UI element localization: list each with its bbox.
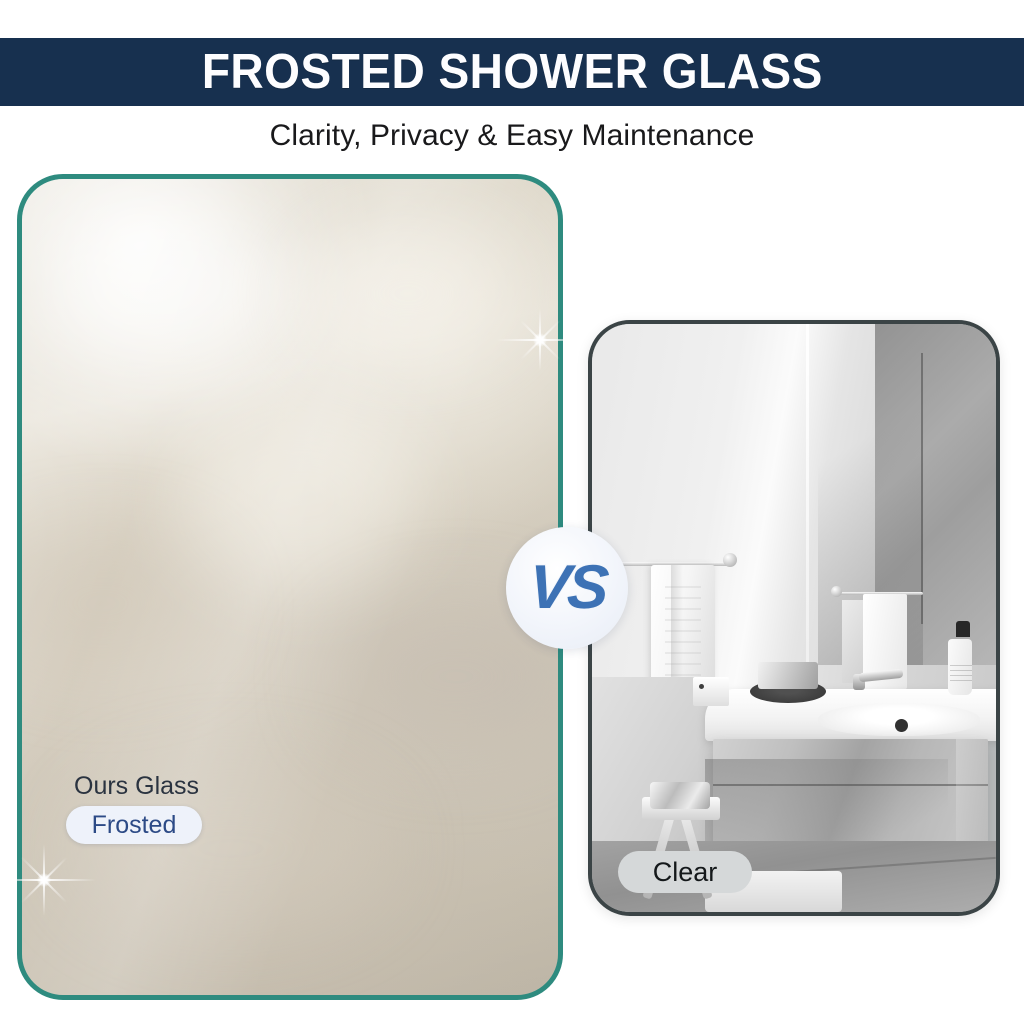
- frost-texture-blob: [17, 538, 215, 669]
- page-title: FROSTED SHOWER GLASS: [201, 44, 822, 100]
- clear-glass-panel[interactable]: [588, 320, 1000, 916]
- tissue-box: [693, 677, 729, 706]
- ours-glass-caption: Ours Glass: [74, 772, 199, 801]
- soap-bottle-cap: [956, 621, 970, 637]
- counter-items: [758, 662, 819, 688]
- vanity-side-panel: [956, 739, 988, 857]
- frost-texture-blob: [43, 203, 290, 366]
- frosted-badge: Frosted: [66, 806, 202, 844]
- frost-texture-blob: [301, 228, 515, 359]
- vs-divider-badge: VS: [506, 527, 628, 649]
- product-comparison-infographic: FROSTED SHOWER GLASS Clarity, Privacy & …: [0, 0, 1024, 1024]
- tissue-dot: [699, 684, 704, 689]
- stool-folded-towels: [650, 782, 710, 810]
- bathroom-photo: [592, 324, 996, 912]
- clear-badge: Clear: [618, 851, 752, 893]
- mirror-edge: [921, 353, 923, 623]
- frost-texture-blob: [183, 407, 419, 587]
- header-banner: FROSTED SHOWER GLASS: [0, 38, 1024, 106]
- wall-seam: [806, 324, 809, 700]
- soap-bottle-label: [950, 665, 972, 685]
- page-subtitle: Clarity, Privacy & Easy Maintenance: [0, 119, 1024, 153]
- vs-label: VS: [526, 557, 607, 619]
- frosted-glass-panel[interactable]: [17, 174, 563, 1000]
